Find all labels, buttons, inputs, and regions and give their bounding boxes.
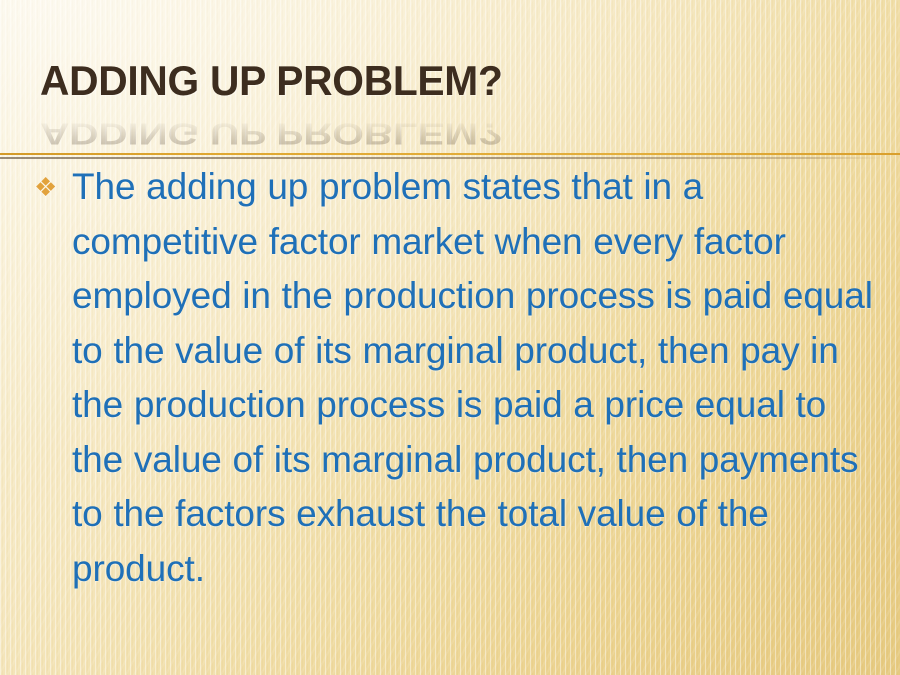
slide-title-reflection: Adding up problem?: [40, 117, 855, 150]
title-underline-rule: [0, 153, 900, 155]
presentation-slide: Adding up problem? Adding up problem? ❖ …: [0, 0, 900, 675]
bullet-list-item: ❖ The adding up problem states that in a…: [34, 160, 884, 596]
diamond-cluster-bullet-icon: ❖: [34, 160, 72, 200]
slide-title-area: Adding up problem? Adding up problem?: [0, 54, 900, 162]
title-underline-rule-reflection: [0, 157, 884, 159]
slide-body: ❖ The adding up problem states that in a…: [34, 160, 884, 596]
slide-title: Adding up problem?: [40, 58, 855, 104]
bullet-item-text: The adding up problem states that in a c…: [72, 160, 884, 596]
